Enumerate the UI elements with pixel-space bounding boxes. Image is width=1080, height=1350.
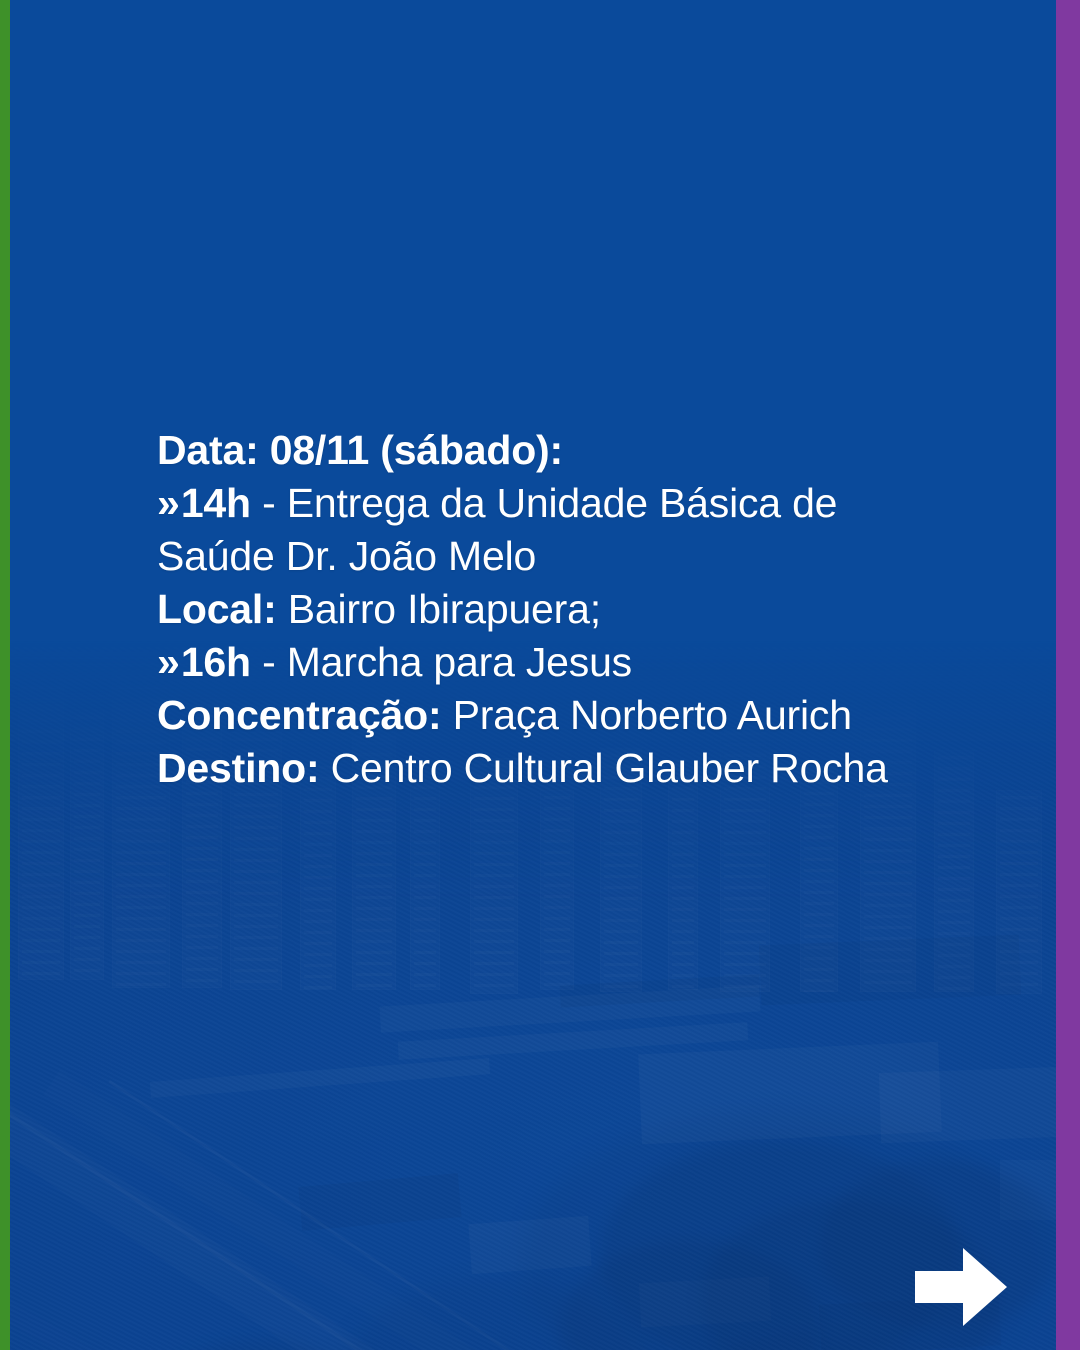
chevron-right-double-icon: » bbox=[157, 477, 179, 530]
entry-3-description: Marcha para Jesus bbox=[287, 639, 632, 685]
entry-2-value: Bairro Ibirapuera; bbox=[277, 586, 601, 632]
entry-4-value: Praça Norberto Aurich bbox=[441, 692, 851, 738]
schedule-entry-5: Destino: Centro Cultural Glauber Rocha bbox=[157, 742, 957, 795]
entry-4-label: Concentração: bbox=[157, 692, 441, 738]
entry-3-time: 16h bbox=[181, 639, 251, 685]
arrow-right-icon bbox=[915, 1248, 1007, 1326]
accent-stripe-right bbox=[1056, 0, 1080, 1350]
schedule-entry-3: »16h - Marcha para Jesus bbox=[157, 636, 957, 689]
next-slide-button[interactable] bbox=[915, 1248, 1007, 1326]
schedule-entry-4: Concentração: Praça Norberto Aurich bbox=[157, 689, 957, 742]
poster-canvas: Data: 08/11 (sábado): »14h - Entrega da … bbox=[0, 0, 1080, 1350]
schedule-entry-1: »14h - Entrega da Unidade Básica de Saúd… bbox=[157, 477, 957, 583]
entry-5-label: Destino: bbox=[157, 745, 319, 791]
schedule-text-block: Data: 08/11 (sábado): »14h - Entrega da … bbox=[157, 424, 957, 795]
entry-2-label: Local: bbox=[157, 586, 277, 632]
entry-5-value: Centro Cultural Glauber Rocha bbox=[319, 745, 887, 791]
entry-1-separator: - bbox=[251, 480, 287, 526]
entry-3-separator: - bbox=[251, 639, 287, 685]
entry-1-time: 14h bbox=[181, 480, 251, 526]
schedule-entry-2: Local: Bairro Ibirapuera; bbox=[157, 583, 957, 636]
chevron-right-double-icon: » bbox=[157, 636, 179, 689]
schedule-date-heading: Data: 08/11 (sábado): bbox=[157, 424, 957, 477]
accent-stripe-left bbox=[0, 0, 10, 1350]
date-heading-text: Data: 08/11 (sábado): bbox=[157, 427, 563, 473]
